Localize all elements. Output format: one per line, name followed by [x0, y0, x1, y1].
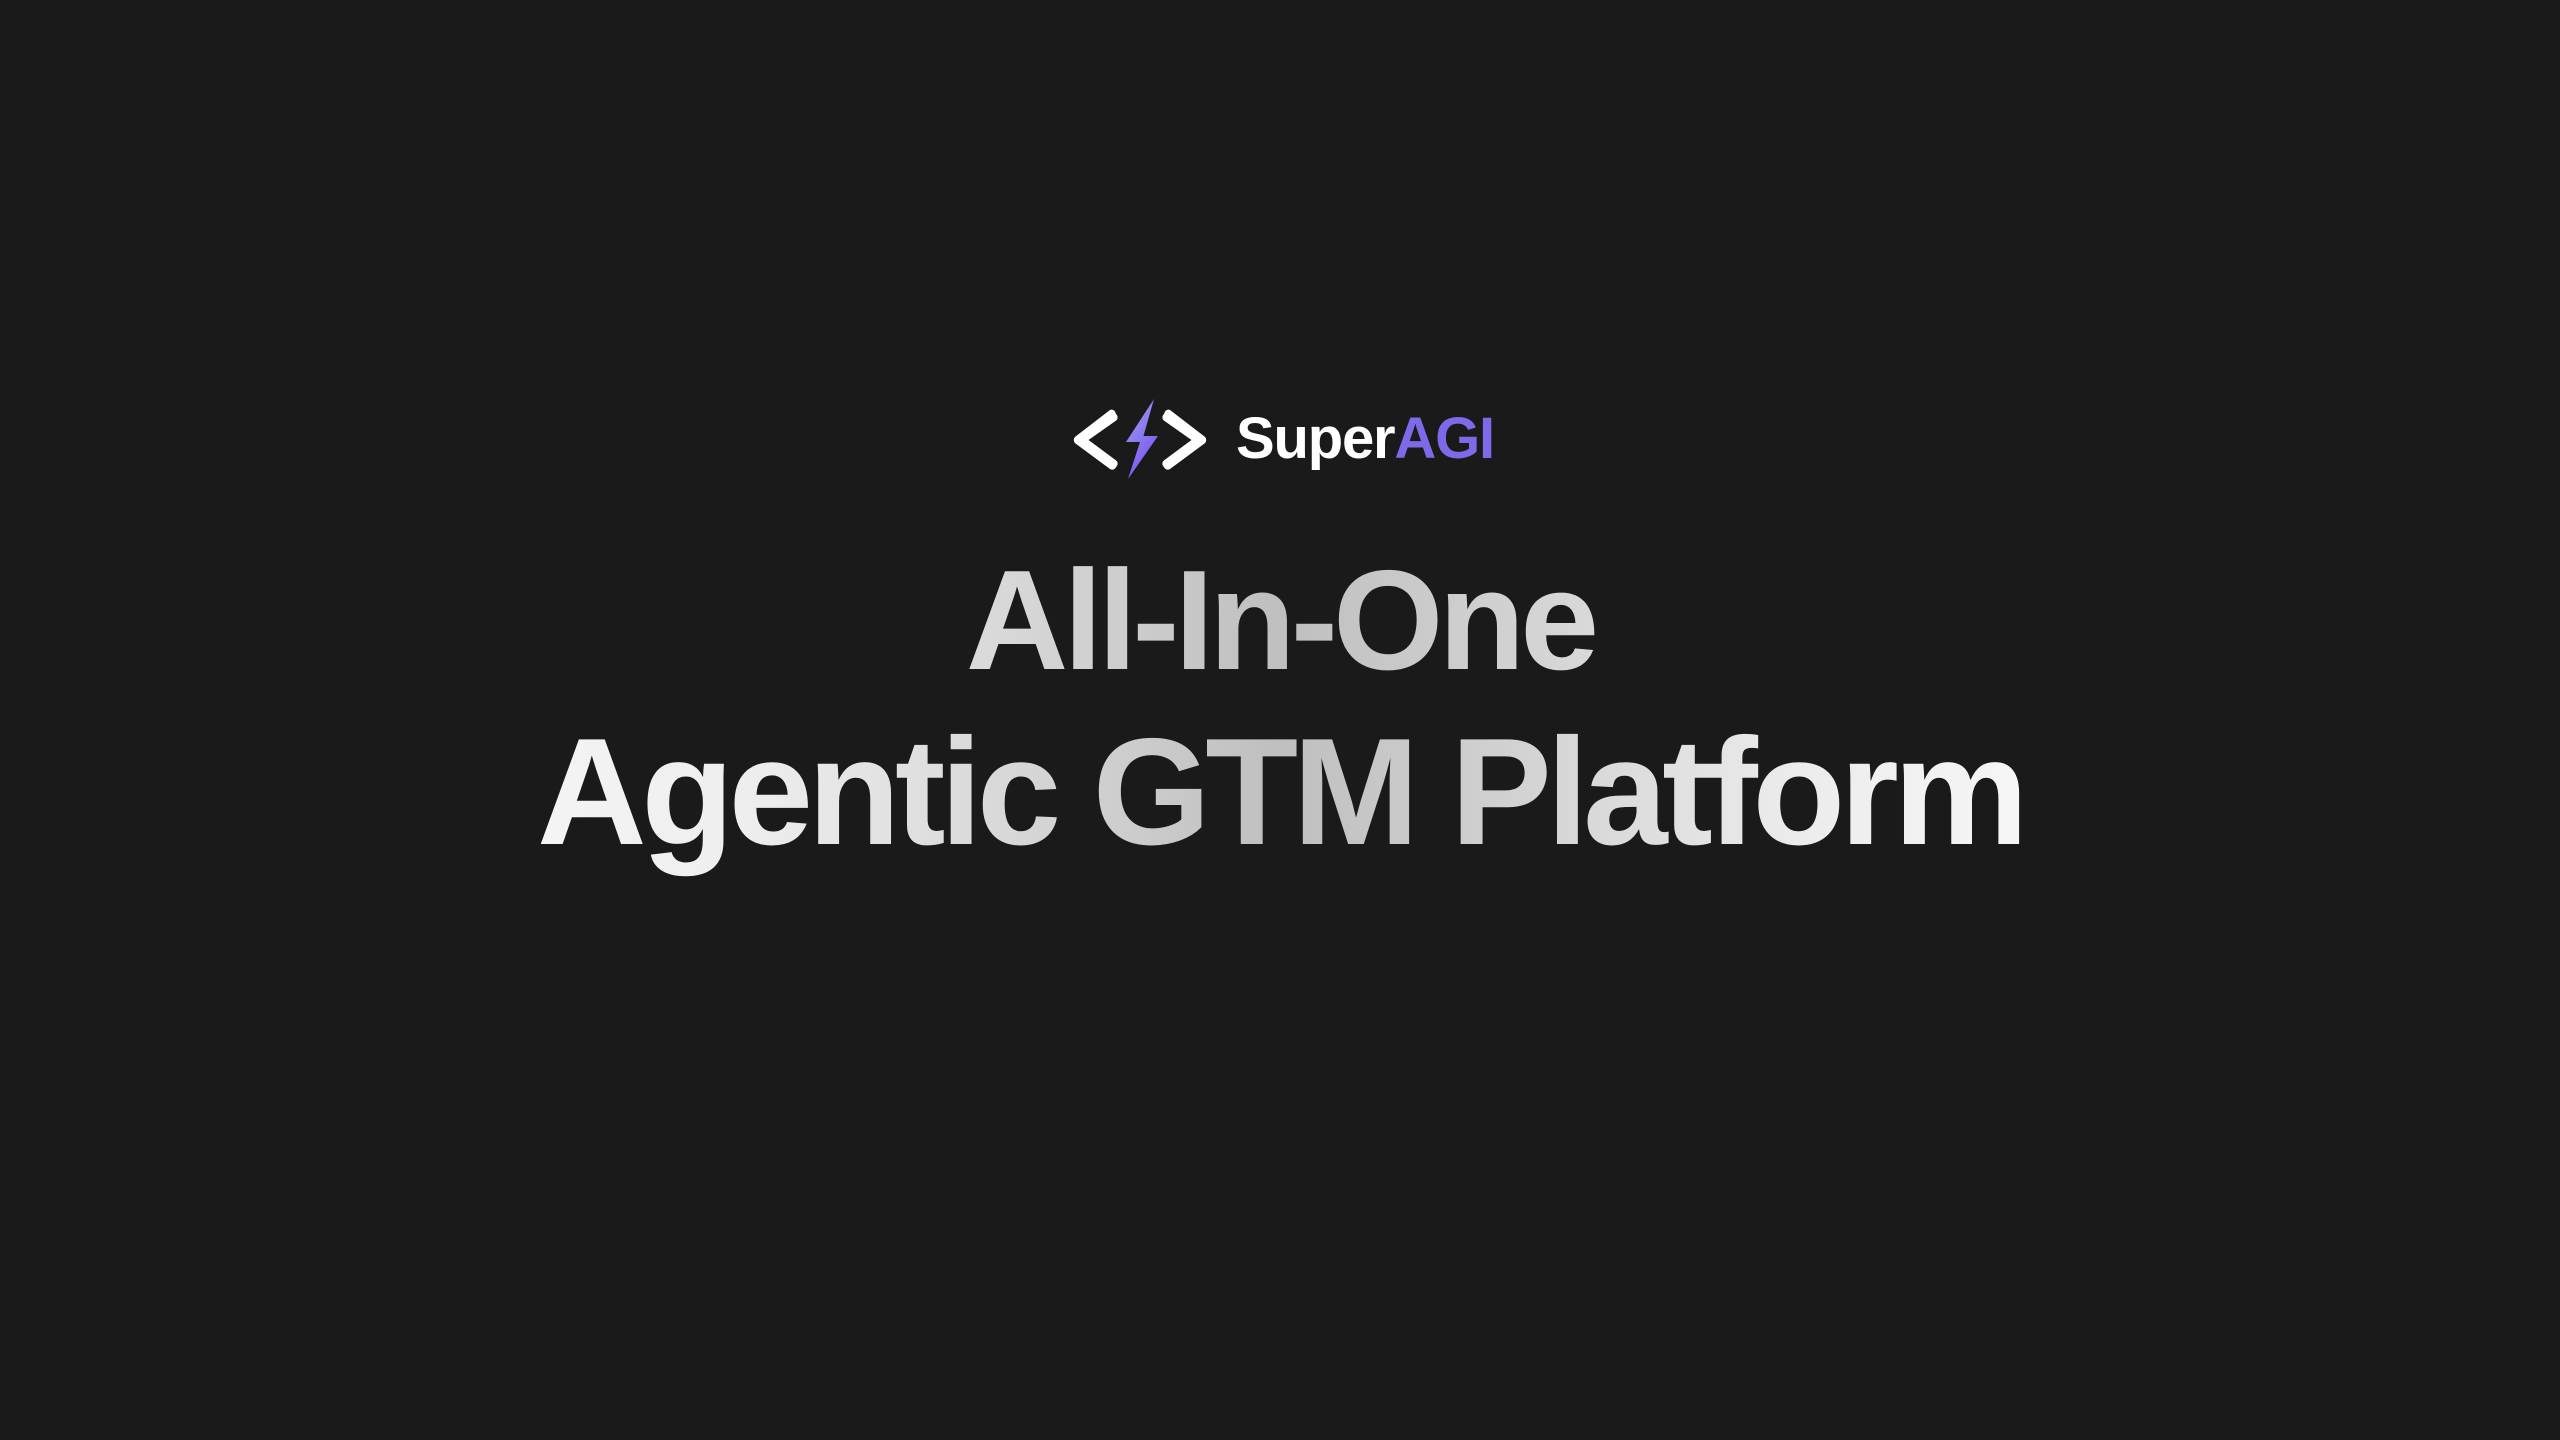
- brand-wordmark: SuperAGI: [1236, 410, 1494, 468]
- right-chevron-icon: [1162, 410, 1206, 470]
- lightning-bolt-icon: [1126, 399, 1158, 479]
- headline-line-1: All-In-One: [537, 540, 2023, 702]
- headline-line-2: Agentic GTM Platform: [537, 706, 2023, 879]
- wordmark-primary: Super: [1236, 410, 1394, 468]
- page-title: All-In-One Agentic GTM Platform: [537, 540, 2023, 879]
- hero-section: SuperAGI All-In-One Agentic GTM Platform: [0, 0, 2560, 1440]
- code-brackets-lightning-logo: [1066, 397, 1214, 481]
- left-chevron-icon: [1074, 410, 1118, 470]
- wordmark-accent: AGI: [1394, 410, 1494, 468]
- brand-lockup[interactable]: SuperAGI: [1066, 396, 1494, 482]
